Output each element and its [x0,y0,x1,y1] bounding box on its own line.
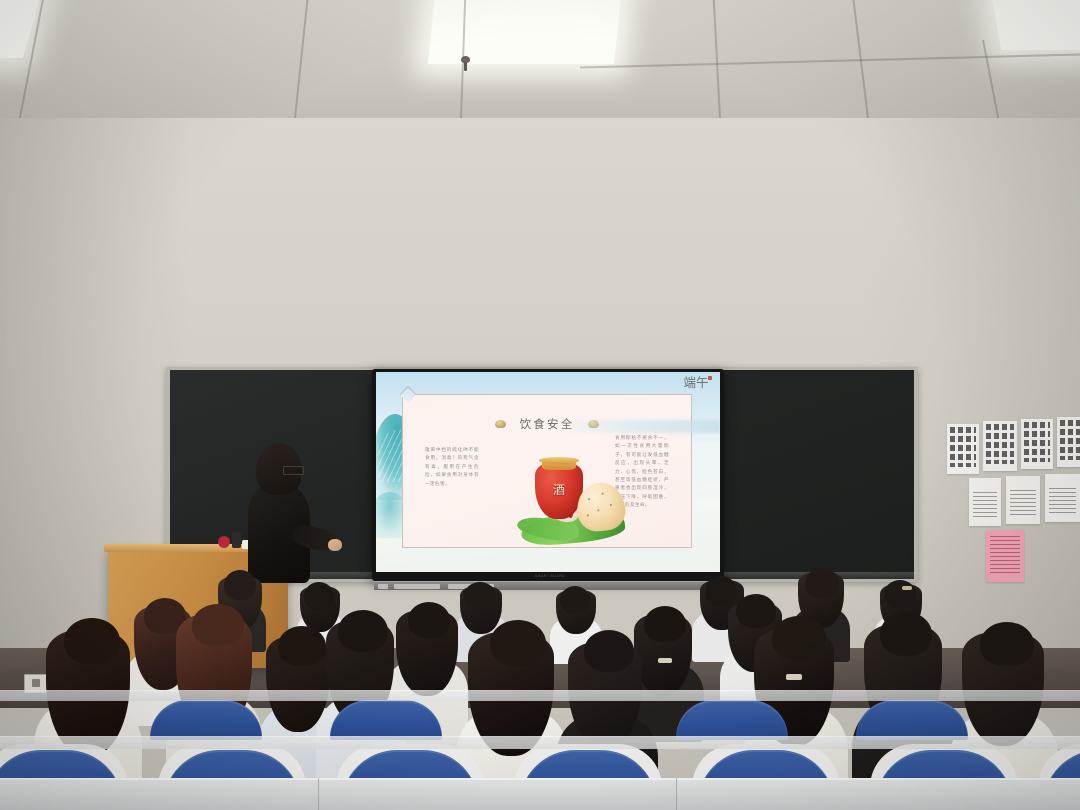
notice-white-2 [1006,476,1040,524]
student-head [304,582,334,610]
seat[interactable] [856,700,968,740]
photo-board-4-photos [1060,420,1080,460]
hair-clip-icon [786,674,802,680]
student-head [772,616,826,660]
student-head [490,620,546,666]
desk-seam [676,778,677,810]
seat[interactable] [150,700,262,740]
dumpling-speck [597,509,599,511]
seat[interactable] [330,700,442,740]
student-head [338,610,388,652]
slide-text-left: 雄黄中档的硫化砷不能食用。消毒？的死气含有毒，服用在产生危险，如果食用对身体有一… [425,447,479,489]
presentation-slide[interactable]: 端午 饮食安全 雄黄中档的硫化砷不能食用。消毒？的死气含有毒，服用在产生危险，如… [376,372,720,572]
student-head [560,586,590,614]
dumpling-speck [587,514,589,516]
student-head [408,602,450,638]
seal-dot-icon [708,376,712,380]
notice-text-lines [1049,488,1076,516]
eyeglasses-icon [283,466,304,475]
student-head [192,604,244,646]
dumpling-speck [610,504,612,506]
student-head [980,622,1034,666]
student-head [464,582,496,610]
dumpling-speck [588,498,590,500]
student-head [805,568,839,598]
desk-row-front [0,778,1080,810]
slide-content-card: 饮食安全 雄黄中档的硫化砷不能食用。消毒？的死气含有毒，服用在产生危险，如果食用… [402,394,692,548]
student-head [705,576,737,606]
presenter-hand [328,539,342,551]
student-head [584,630,634,672]
hair-clip-icon [658,658,672,663]
notice-text-lines [1010,490,1036,518]
sprinkler-head [461,56,470,63]
student-head [64,618,120,664]
wine-jar-lid [539,457,579,464]
photo-board-2-photos [986,424,1014,464]
student-head [736,594,776,628]
desk-row-back [0,690,1080,701]
photo-board-3-photos [1024,422,1050,462]
student-head [884,580,916,608]
podium-marker-red [218,536,230,548]
dumpling-speck [602,493,604,495]
hair-clip-icon [902,586,912,590]
notice-white-1 [969,478,1001,526]
student-head [278,626,326,666]
student-head [880,612,932,656]
ceiling-light-center [428,0,622,64]
zongzi-icon-left [495,420,506,428]
notice-text-lines [973,492,997,520]
wine-jar-label: 酒 [535,481,583,498]
ceiling-light-right [991,0,1080,50]
desk-row-mid [0,736,1080,749]
notice-white-3 [1045,474,1080,522]
seat[interactable] [676,700,788,740]
slide-illustration: 酒 [515,457,633,553]
desk-seam [318,778,319,810]
student-head [644,606,686,642]
photo-board-1-photos [950,427,976,467]
classroom-photo: 端午 饮食安全 雄黄中档的硫化砷不能食用。消毒？的死气含有毒，服用在产生危险，如… [0,0,1080,810]
student-head [224,570,256,600]
screen-glare [562,420,720,433]
